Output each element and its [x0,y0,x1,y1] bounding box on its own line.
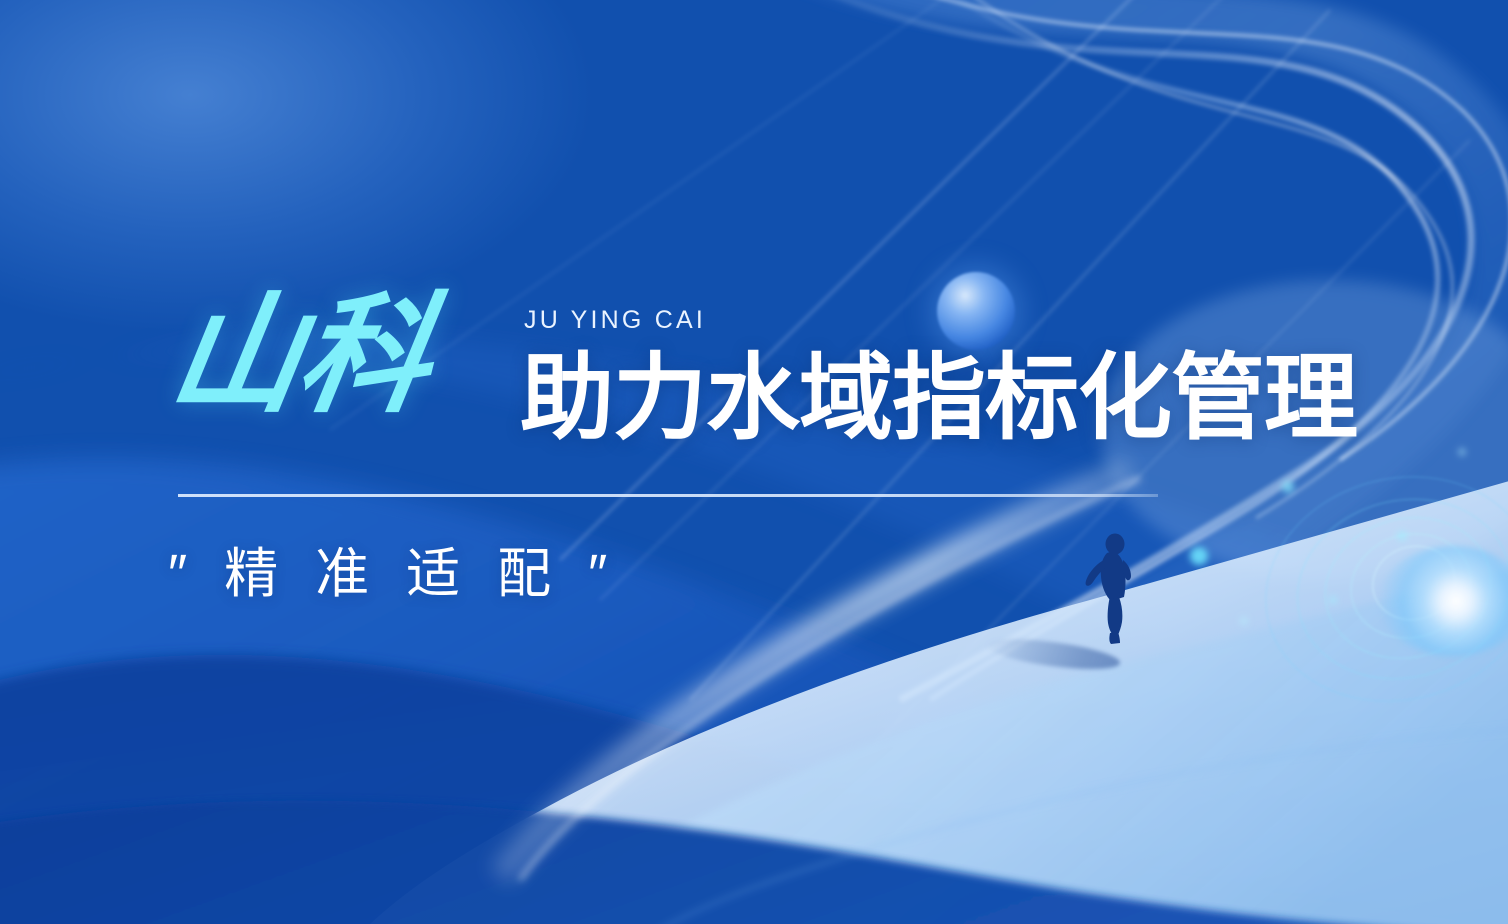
pinyin-label: JU YING CAI [524,306,706,335]
tagline: ″ 精 准 适 配 ″ [168,543,618,605]
headline: 助力水域指标化管理 [520,351,1357,445]
brand-logo: 山科 [163,296,438,416]
divider-rule [178,494,1158,497]
content-layer: 山科 JU YING CAI 助力水域指标化管理 ″ 精 准 适 配 ″ [0,0,1508,924]
banner-root: 山科 JU YING CAI 助力水域指标化管理 ″ 精 准 适 配 ″ [0,0,1508,924]
brand-row: 山科 [172,296,428,416]
